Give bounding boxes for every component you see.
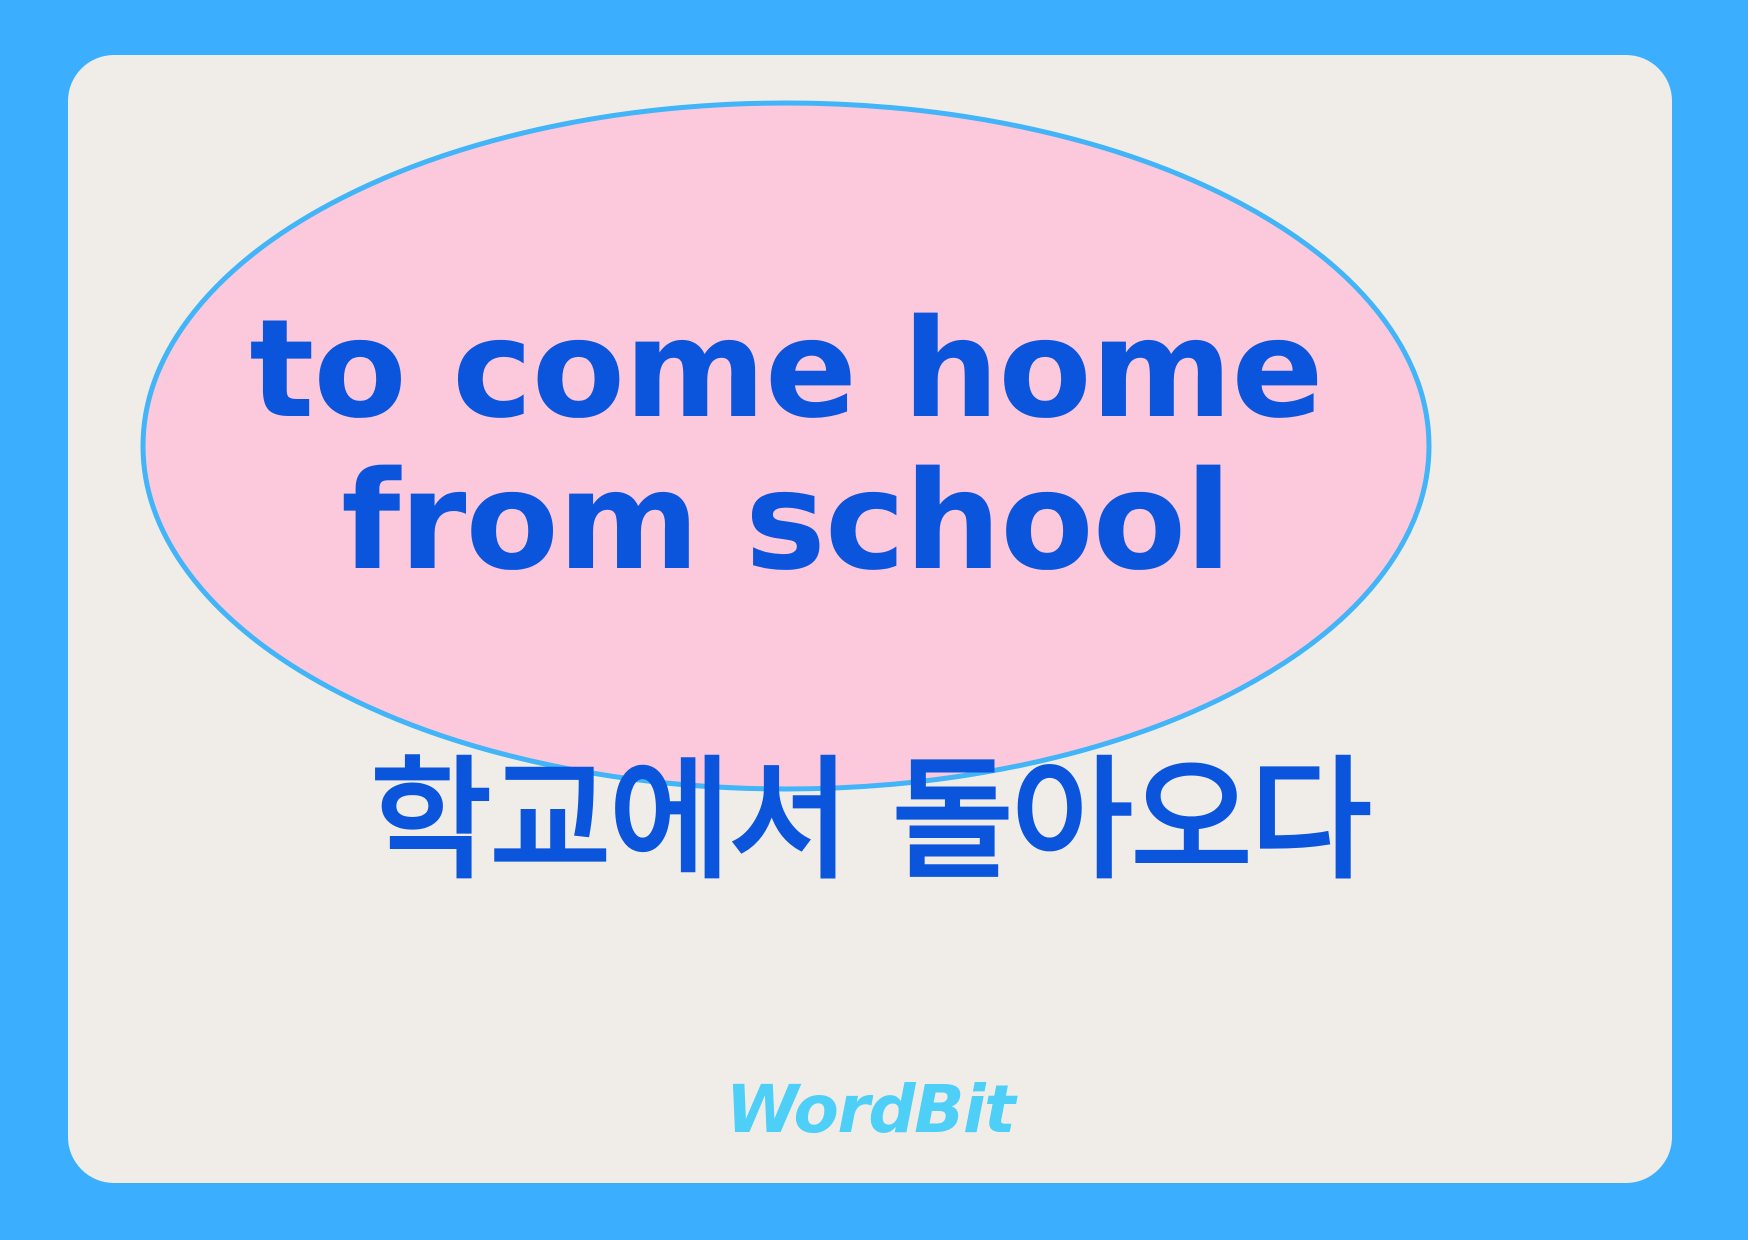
- term-text: to come home from school: [140, 100, 1432, 792]
- flashcard-card[interactable]: to come home from school 학교에서 돌아오다 WordB…: [68, 55, 1672, 1183]
- flashcard-root: to come home from school 학교에서 돌아오다 WordB…: [0, 0, 1748, 1240]
- term-bubble: to come home from school: [140, 100, 1432, 792]
- brand-logo-text: WordBit: [726, 1077, 1014, 1143]
- brand-footer: WordBit: [68, 1055, 1672, 1165]
